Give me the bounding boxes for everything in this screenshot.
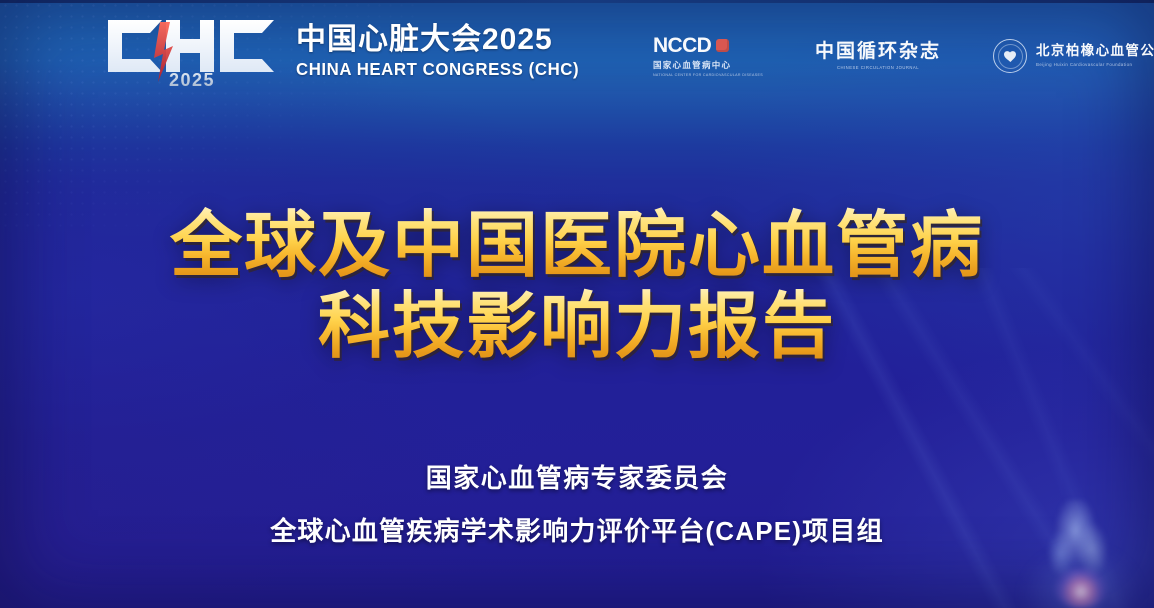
partner-logo-nccd: NCCD 国家心血管病中心 NATIONAL CENTER FOR CARDIO… <box>653 35 763 77</box>
title-line-1: 全球及中国医院心血管病 <box>0 206 1154 287</box>
partner-logos: NCCD 国家心血管病中心 NATIONAL CENTER FOR CARDIO… <box>653 35 1154 77</box>
svg-text:2025: 2025 <box>169 70 215 88</box>
ccj-name-cn: 中国循环杂志 <box>815 42 941 61</box>
logo-header: 2025 中国心脏大会2025 CHINA HEART CONGRESS (CH… <box>0 0 1154 112</box>
chc-name-cn: 中国心脏大会2025 <box>296 25 591 55</box>
heart-hands-icon <box>1003 49 1018 63</box>
ccj-name-en: CHINESE CIRCULATION JOURNAL <box>837 65 919 70</box>
chc-logo-wordmark: 中国心脏大会2025 CHINA HEART CONGRESS (CHC) <box>296 25 591 79</box>
nccd-name-cn: 国家心血管病中心 <box>653 59 731 71</box>
slide-title: 全球及中国医院心血管病 科技影响力报告 <box>0 206 1154 367</box>
nccd-square-icon <box>716 39 729 52</box>
foundation-badge-icon <box>993 39 1027 73</box>
chc-name-en: CHINA HEART CONGRESS (CHC) <box>296 61 579 79</box>
subtitle-line-2: 全球心血管疾病学术影响力评价平台(CAPE)项目组 <box>0 511 1154 548</box>
foundation-name-en: Beijing Huixin Cardiovascular Foundation <box>1036 62 1132 67</box>
chc-monogram-icon: 2025 <box>100 16 282 88</box>
presentation-slide: 2025 中国心脏大会2025 CHINA HEART CONGRESS (CH… <box>0 0 1154 608</box>
nccd-letters: NCCD <box>653 35 711 56</box>
foundation-name-cn: 北京柏橡心血管公益基金会 <box>1036 45 1154 59</box>
nccd-name-en: NATIONAL CENTER FOR CARDIOVASCULAR DISEA… <box>653 73 763 77</box>
partner-logo-beijing-cardiovascular-foundation: 北京柏橡心血管公益基金会 Beijing Huixin Cardiovascul… <box>993 39 1154 73</box>
title-line-2: 科技影响力报告 <box>0 287 1154 368</box>
burst-core <box>1054 568 1108 608</box>
chc-logo: 2025 中国心脏大会2025 CHINA HEART CONGRESS (CH… <box>100 16 591 88</box>
partner-logo-chinese-circulation-journal: 中国循环杂志 CHINESE CIRCULATION JOURNAL <box>815 42 941 70</box>
subtitle-line-1: 国家心血管病专家委员会 <box>0 458 1154 495</box>
slide-subtitle: 国家心血管病专家委员会 全球心血管疾病学术影响力评价平台(CAPE)项目组 <box>0 458 1154 548</box>
